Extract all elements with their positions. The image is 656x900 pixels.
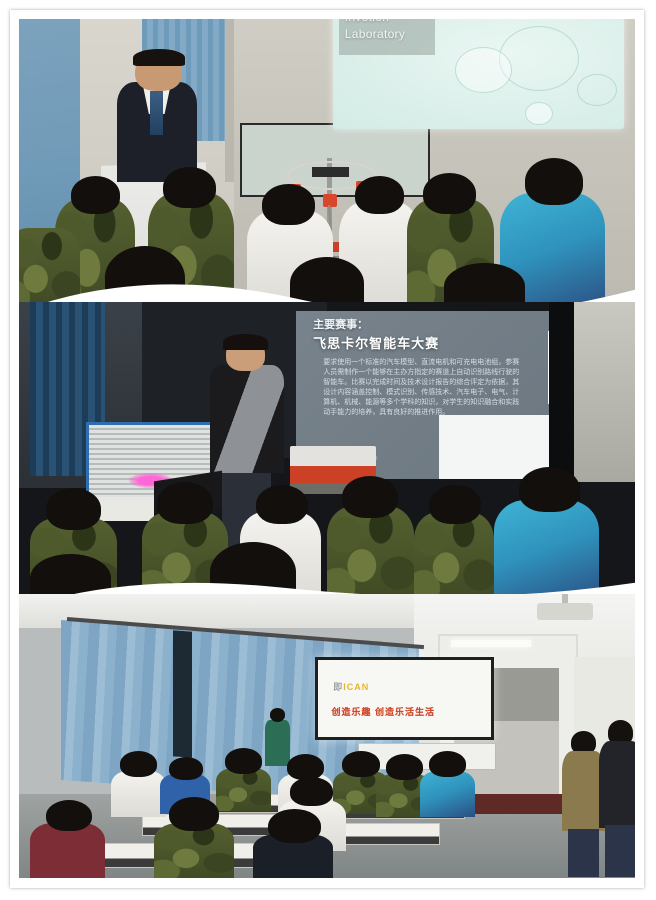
- audience-head: [355, 176, 404, 214]
- collage-panel-1: Robot Invotion Laboratory: [10, 10, 644, 310]
- student: [30, 823, 104, 880]
- panel-3-scene: 即ICAN 创造乐趣 创造乐活生活: [18, 594, 636, 880]
- student-head: [169, 757, 203, 780]
- student-head: [386, 754, 423, 780]
- student-head: [46, 800, 92, 831]
- presenter-body: [265, 720, 290, 766]
- student-head: [287, 754, 324, 780]
- presenter-jacket: [210, 365, 284, 473]
- slide-line-3: Laboratory: [345, 26, 450, 43]
- collage-frame: Robot Invotion Laboratory: [10, 10, 644, 888]
- audience-head: [525, 158, 584, 205]
- student-head: [268, 809, 321, 843]
- audience-head: [423, 173, 476, 214]
- student-head: [429, 751, 466, 777]
- bubble-graphic: [525, 102, 553, 126]
- audience-head: [519, 467, 581, 512]
- audience-member: [327, 506, 414, 602]
- standing-observer: [599, 720, 636, 874]
- frame-edge-left: [10, 10, 19, 888]
- frame-edge-bottom: [10, 878, 644, 888]
- presenter-head: [270, 708, 285, 721]
- slide-heading-2: 主要赛事：: [313, 316, 368, 332]
- bubble-graphic: [499, 26, 579, 91]
- robot-hub: [312, 167, 349, 177]
- audience-member: [18, 228, 80, 310]
- audience-member: [494, 500, 599, 602]
- audience-head: [342, 476, 398, 518]
- ceiling-projector: [537, 603, 593, 620]
- observer-legs: [605, 825, 636, 878]
- panel-2-scene: 主要赛事： 飞思卡尔智能车大赛 要求使用一个标准的汽车模型、直流电机和可充电电池…: [18, 302, 636, 602]
- audience-head: [46, 488, 102, 530]
- collage-panel-2: 主要赛事： 飞思卡尔智能车大赛 要求使用一个标准的汽车模型、直流电机和可充电电池…: [10, 302, 644, 602]
- audience-head: [210, 542, 297, 602]
- audience-head: [157, 482, 213, 524]
- presenter-hair: [223, 334, 267, 351]
- partition-divider: [225, 18, 234, 182]
- audience-member: [414, 512, 494, 602]
- observer-jacket: [599, 741, 636, 827]
- fluorescent-light: [451, 640, 531, 647]
- student-head: [120, 751, 157, 777]
- student-head: [290, 777, 333, 806]
- ican-logo: 即ICAN: [333, 680, 369, 693]
- curtain-gap: [173, 631, 192, 758]
- slide-title-2: 飞思卡尔智能车大赛: [313, 333, 439, 352]
- audience-head: [105, 246, 185, 310]
- bubble-graphic: [455, 47, 512, 93]
- ican-logo-main: ICAN: [343, 682, 369, 692]
- student-head: [225, 748, 262, 774]
- frame-edge-top: [10, 10, 644, 19]
- slide-body-2: 要求使用一个标准的汽车模型、直流电机和可充电电池组，参赛人员需制作一个能够在主办…: [323, 358, 520, 418]
- ican-logo-prefix: 即: [333, 682, 343, 692]
- observer-legs: [568, 829, 599, 878]
- student: [216, 768, 272, 811]
- audience-head: [163, 167, 216, 208]
- photo-collage: Robot Invotion Laboratory: [0, 0, 656, 900]
- projected-slide-1: Robot Invotion Laboratory: [333, 18, 623, 129]
- speaker-hair: [133, 49, 185, 67]
- audience-head: [71, 176, 120, 214]
- audience-head: [262, 184, 315, 225]
- audience-head: [429, 485, 481, 524]
- ican-subtitle: 创造乐趣 创造乐活生活: [331, 705, 435, 718]
- collage-panel-3: 即ICAN 创造乐趣 创造乐活生活: [10, 594, 644, 888]
- bubble-graphic: [577, 74, 617, 106]
- projected-slide-3: 即ICAN 创造乐趣 创造乐活生活: [315, 657, 494, 740]
- audience-head: [256, 485, 308, 524]
- student-head: [169, 797, 218, 831]
- frame-edge-right: [635, 10, 644, 888]
- student: [154, 823, 234, 880]
- slide-line-2: Invotion: [345, 18, 450, 26]
- panel-1-scene: Robot Invotion Laboratory: [18, 18, 636, 310]
- student-head: [342, 751, 379, 777]
- speaker-tie: [150, 91, 162, 135]
- student: [111, 771, 167, 817]
- far-wall: [574, 302, 636, 482]
- slide-title-1: Robot Invotion Laboratory: [345, 18, 450, 43]
- student: [420, 771, 476, 817]
